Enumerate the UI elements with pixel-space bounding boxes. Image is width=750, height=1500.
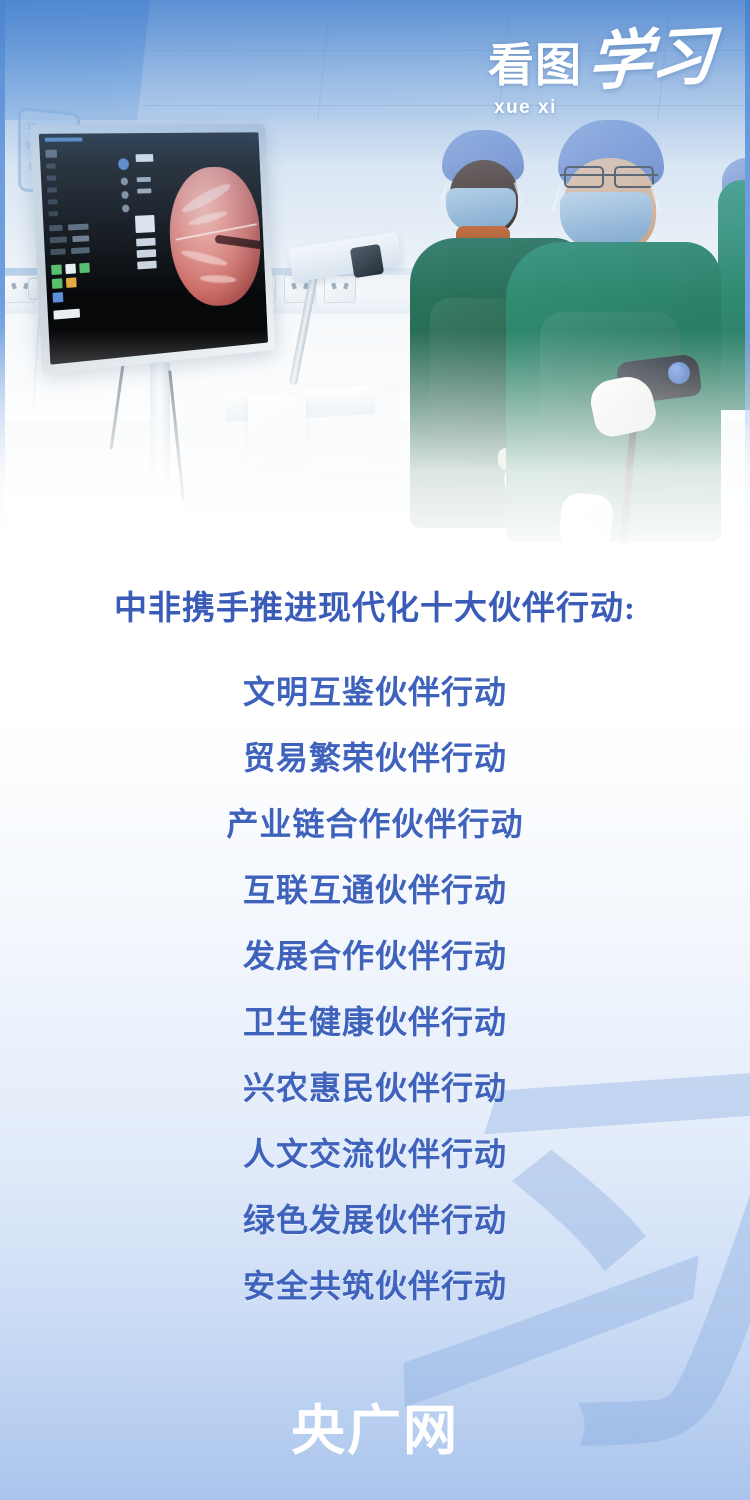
list-item: 兴农惠民伙伴行动	[0, 1055, 750, 1121]
list-item: 人文交流伙伴行动	[0, 1121, 750, 1187]
eyeglasses-icon	[560, 174, 658, 176]
content-area: 中非携手推进现代化十大伙伴行动: 文明互鉴伙伴行动 贸易繁荣伙伴行动 产业链合作…	[0, 560, 750, 1319]
partnership-action-list: 文明互鉴伙伴行动 贸易繁荣伙伴行动 产业链合作伙伴行动 互联互通伙伴行动 发展合…	[0, 659, 750, 1319]
endoscopy-monitor	[30, 124, 276, 374]
page-title: 中非携手推进现代化十大伙伴行动:	[0, 581, 750, 629]
brand-kantu-text: 看图	[488, 42, 582, 88]
surgical-mask	[560, 192, 652, 248]
list-item: 绿色发展伙伴行动	[0, 1187, 750, 1253]
surgical-glove-left	[557, 491, 615, 556]
screen-ui-panel	[39, 133, 176, 365]
list-item: 卫生健康伙伴行动	[0, 989, 750, 1055]
publisher-logo: 央广网	[291, 1386, 459, 1465]
list-item: 贸易繁荣伙伴行动	[0, 725, 750, 791]
list-item: 产业链合作伙伴行动	[0, 791, 750, 857]
brand-xuexi-calligraphy: 学习	[586, 25, 714, 95]
equipment-box	[248, 395, 306, 465]
list-item: 发展合作伙伴行动	[0, 923, 750, 989]
list-item: 互联互通伙伴行动	[0, 857, 750, 923]
brand-logo: 看图 学习 xue xi	[488, 42, 712, 117]
right-edge-strip	[745, 0, 750, 560]
list-item: 文明互鉴伙伴行动	[0, 659, 750, 725]
endoscopic-image	[167, 166, 263, 310]
monitor-stand-arm	[150, 362, 170, 482]
poster-root: 11 9 8	[0, 0, 750, 1500]
ceiling-arm-head	[350, 244, 384, 278]
brand-pinyin: xue xi	[494, 98, 712, 117]
list-item: 安全共筑伙伴行动	[0, 1253, 750, 1319]
footer-bar: 央广网	[0, 1350, 750, 1500]
left-edge-strip	[0, 0, 5, 560]
monitor-screen	[39, 132, 268, 364]
endoscope-control-knob	[668, 362, 690, 384]
